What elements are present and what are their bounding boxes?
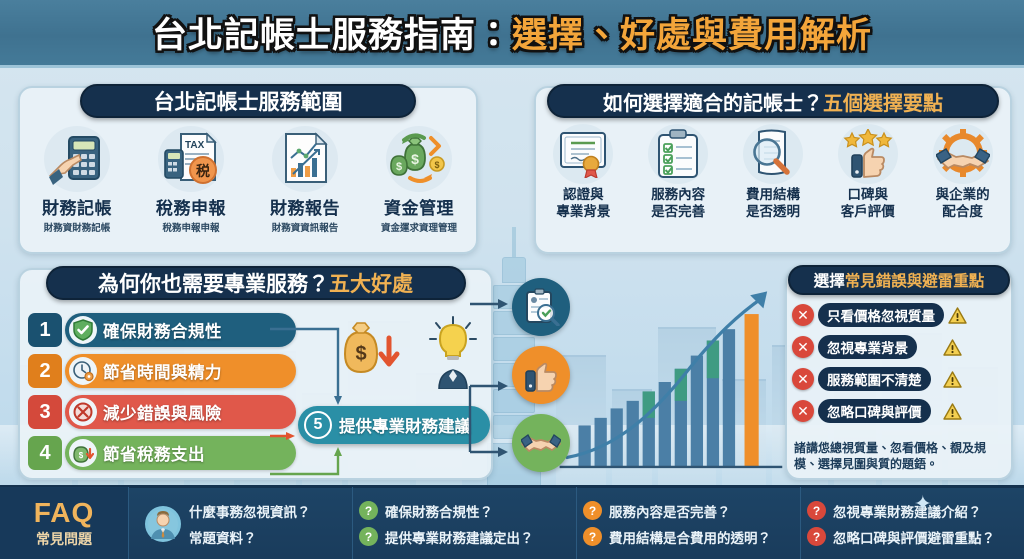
selection-label-line2: 專業背景 xyxy=(556,204,610,219)
svg-text:TAX: TAX xyxy=(185,140,205,151)
mistakes-note: 諸講怹總視質量、忽看價格、覩及規模、選擇見圍與質的題鋙。 xyxy=(794,440,1008,472)
benefits-panel: 為何你也需要專業服務？五大好處 1 確保財務合規性 2 節省時間與精力 xyxy=(18,268,493,480)
magnifier-doc-icon xyxy=(743,124,803,184)
benefit-label: 節省時間與精力 xyxy=(103,359,222,383)
warning-triangle-icon xyxy=(943,339,962,356)
document-search-icon[interactable] xyxy=(512,278,570,336)
shield-check-icon xyxy=(69,316,97,344)
mistake-row-1[interactable]: ✕ 只看價格忽視質量 xyxy=(792,302,1010,328)
selection-title-plain: 如何選擇適合的記帳士？ xyxy=(603,87,823,116)
service-item-fund-management[interactable]: $ $ $ 資金管理 資金運求資理管理 xyxy=(362,126,476,234)
faq-text: 忽略口碑與評價避雷重點？ xyxy=(833,527,995,547)
selection-label-line1: 費用結構 xyxy=(746,187,800,202)
selection-label-line1: 與企業的 xyxy=(936,187,990,202)
selection-label-line1: 口碑與 xyxy=(848,187,889,202)
selection-label-line2: 配合度 xyxy=(942,204,983,219)
faq-text: 提供專業財務建議定出？ xyxy=(385,527,534,547)
faq-text: 服務內容是否完善？ xyxy=(609,501,731,521)
faq-bar: FAQ 常見問題 什麼事務忽視資訊？ 常題資料？ xyxy=(0,485,1024,559)
svg-text:税: 税 xyxy=(196,163,210,179)
selection-item-label: 費用結構 是否透明 xyxy=(726,187,821,221)
handshake-gear-icon xyxy=(933,124,993,184)
mistake-label: 只看價格忽視質量 xyxy=(818,303,944,327)
warning-triangle-icon xyxy=(943,403,962,420)
service-scope-items: 財務記帳 財務資財務記帳 TAX 税 xyxy=(20,126,476,234)
clock-gear-icon xyxy=(69,357,97,385)
selection-item-cooperation[interactable]: 與企業的 配合度 xyxy=(915,124,1010,221)
svg-text:$: $ xyxy=(396,161,402,173)
faq-group-1: 什麼事務忽視資訊？ 常題資料？ xyxy=(128,487,352,559)
mistake-row-3[interactable]: ✕ 服務範圍不清楚 xyxy=(792,366,1010,392)
service-item-name: 財務報告 xyxy=(248,194,362,219)
report-chart-icon xyxy=(272,126,338,192)
selection-title: 如何選擇適合的記帳士？五個選擇要點 xyxy=(547,84,999,118)
benefits-list: 1 確保財務合規性 2 節省時間與精力 3 xyxy=(28,312,296,476)
close-icon: ✕ xyxy=(792,400,814,422)
benefit-label: 提供專業財務建議 xyxy=(339,413,471,437)
benefit-row-2[interactable]: 2 節省時間與精力 xyxy=(28,353,296,389)
faq-lines: ? 確保財務合規性？ ? 提供專業財務建議定出？ xyxy=(359,501,534,547)
faq-item[interactable]: ? 忽略口碑與評價避雷重點？ xyxy=(807,527,995,547)
money-bag-down-icon: $ xyxy=(335,316,403,388)
faq-item[interactable]: 什麼事務忽視資訊？ xyxy=(189,501,311,521)
mistakes-title: 選擇常見錯誤與避雷重點 xyxy=(788,265,1010,295)
infographic-page: 台北記帳士服務指南：選擇、好處與費用解析 台北記帳士服務範圍 xyxy=(0,0,1024,559)
page-header: 台北記帳士服務指南：選擇、好處與費用解析 xyxy=(0,0,1024,68)
benefit-row-1[interactable]: 1 確保財務合規性 xyxy=(28,312,296,348)
benefit-row-3[interactable]: 3 減少錯誤與風險 xyxy=(28,394,296,430)
selection-item-label: 與企業的 配合度 xyxy=(915,187,1010,221)
close-icon: ✕ xyxy=(792,304,814,326)
mistakes-list: ✕ 只看價格忽視質量 ✕ 忽視專業背景 ✕ 服務範圍不清楚 ✕ 忽略口碑與評價 xyxy=(792,302,1010,430)
person-avatar-icon xyxy=(145,506,181,542)
warning-triangle-icon xyxy=(943,371,962,388)
faq-lines: ? 服務內容是否完善？ ? 費用結構是合費用的透明？ xyxy=(583,501,771,547)
benefit-number: 5 xyxy=(304,411,332,439)
mistake-row-4[interactable]: ✕ 忽略口碑與評價 xyxy=(792,398,1010,424)
service-item-sub: 財務資財務記帳 xyxy=(20,220,134,234)
mistake-label: 服務範圍不清楚 xyxy=(818,367,931,391)
page-title-plain: 台北記帳士服務指南： xyxy=(152,16,512,55)
money-bags-icon: $ $ $ xyxy=(386,126,452,192)
faq-text: 忽視專業財務建議介紹？ xyxy=(833,501,982,521)
mistakes-title-plain: 選擇 xyxy=(814,269,845,291)
faq-item[interactable]: ? 提供專業財務建議定出？ xyxy=(359,527,534,547)
page-title-highlight: 選擇、好處與費用解析 xyxy=(512,16,872,55)
mistake-row-2[interactable]: ✕ 忽視專業背景 xyxy=(792,334,1010,360)
benefits-title-highlight: 五大好處 xyxy=(329,268,413,298)
money-bag-down-icon: $ xyxy=(69,439,97,467)
faq-group-3: ? 服務內容是否完善？ ? 費用結構是合費用的透明？ xyxy=(576,487,800,559)
question-icon: ? xyxy=(359,527,378,546)
benefit-number: 1 xyxy=(28,313,62,347)
benefit-number: 3 xyxy=(28,395,62,429)
calculator-hand-icon xyxy=(44,126,110,192)
benefit-label: 減少錯誤與風險 xyxy=(103,400,222,424)
benefit-label: 確保財務合規性 xyxy=(103,318,222,342)
faq-lines: 什麼事務忽視資訊？ 常題資料？ xyxy=(189,501,311,547)
mistake-label: 忽視專業背景 xyxy=(818,335,917,359)
faq-brand: FAQ 常見問題 xyxy=(0,487,128,559)
service-scope-title: 台北記帳士服務範圍 xyxy=(80,84,416,118)
selection-item-reputation[interactable]: 口碑與 客戶評價 xyxy=(820,124,915,221)
mistakes-panel: 選擇常見錯誤與避雷重點 ✕ 只看價格忽視質量 ✕ 忽視專業背景 ✕ 服務範圍不清… xyxy=(785,268,1013,480)
handshake-icon[interactable] xyxy=(512,414,570,472)
faq-lines: ? 忽視專業財務建議介紹？ ? 忽略口碑與評價避雷重點？ xyxy=(807,501,995,547)
faq-item[interactable]: ? 費用結構是合費用的透明？ xyxy=(583,527,771,547)
faq-item[interactable]: ? 確保財務合規性？ xyxy=(359,501,534,521)
service-item-sub: 財務資資訊報告 xyxy=(248,220,362,234)
benefit-number: 2 xyxy=(28,354,62,388)
growth-chart xyxy=(545,270,795,482)
selection-label-line2: 是否透明 xyxy=(746,204,800,219)
question-icon: ? xyxy=(583,501,602,520)
question-icon: ? xyxy=(359,501,378,520)
faq-item[interactable]: ? 服務內容是否完善？ xyxy=(583,501,771,521)
faq-item[interactable]: 常題資料？ xyxy=(189,527,311,547)
benefit-row-4[interactable]: 4 $ 節省稅務支出 xyxy=(28,435,296,471)
faq-text: 什麼事務忽視資訊？ xyxy=(189,501,311,521)
thumbs-up-icon[interactable] xyxy=(512,346,570,404)
warning-triangle-icon xyxy=(948,307,967,324)
service-item-name: 資金管理 xyxy=(362,194,476,219)
tax-document-icon: TAX 税 xyxy=(158,126,224,192)
selection-item-label: 認證與 專業背景 xyxy=(536,187,631,221)
selection-label-line1: 認證與 xyxy=(563,187,604,202)
benefit-final-step[interactable]: 5 提供專業財務建議 xyxy=(298,406,490,444)
selection-item-label: 服務內容 是否完善 xyxy=(631,187,726,221)
faq-text: 確保財務合規性？ xyxy=(385,501,493,521)
question-icon: ? xyxy=(807,527,826,546)
faq-item[interactable]: ? 忽視專業財務建議介紹？ xyxy=(807,501,995,521)
selection-item-fee-structure[interactable]: 費用結構 是否透明 xyxy=(726,124,821,221)
faq-text: 費用結構是合費用的透明？ xyxy=(609,527,771,547)
selection-item-label: 口碑與 客戶評價 xyxy=(820,187,915,221)
question-icon: ? xyxy=(807,501,826,520)
close-icon: ✕ xyxy=(792,368,814,390)
faq-text: 常題資料？ xyxy=(189,527,257,547)
selection-items: 認證與 專業背景 xyxy=(536,124,1010,221)
selection-item-service-scope[interactable]: 服務內容 是否完善 xyxy=(631,124,726,221)
service-item-name: 財務記帳 xyxy=(20,194,134,219)
faq-group-4: ? 忽視專業財務建議介紹？ ? 忽略口碑與評價避雷重點？ xyxy=(800,487,1024,559)
thumbs-up-stars-icon xyxy=(838,124,898,184)
mistakes-title-highlight: 常見錯誤與避雷重點 xyxy=(845,269,985,291)
service-item-financial-report[interactable]: 財務報告 財務資資訊報告 xyxy=(248,126,362,234)
page-title: 台北記帳士服務指南：選擇、好處與費用解析 xyxy=(152,7,872,58)
no-error-icon xyxy=(69,398,97,426)
svg-text:$: $ xyxy=(79,451,84,460)
question-icon: ? xyxy=(583,527,602,546)
selection-points-panel: 如何選擇適合的記帳士？五個選擇要點 認證與 專業背景 xyxy=(534,86,1012,254)
service-item-tax-filing[interactable]: TAX 税 稅務申報 稅務申報申報 xyxy=(134,126,248,234)
sparkle-icon: ✦ xyxy=(914,491,932,517)
svg-text:$: $ xyxy=(355,343,366,365)
benefits-title-plain: 為何你也需要專業服務？ xyxy=(98,268,329,298)
selection-title-highlight: 五個選擇要點 xyxy=(823,87,943,116)
svg-text:$: $ xyxy=(411,151,419,167)
service-item-bookkeeping[interactable]: 財務記帳 財務資財務記帳 xyxy=(20,126,134,234)
faq-group-2: ? 確保財務合規性？ ? 提供專業財務建議定出？ xyxy=(352,487,576,559)
benefit-number: 4 xyxy=(28,436,62,470)
faq-brand-subtitle: 常見問題 xyxy=(36,529,92,549)
certificate-icon xyxy=(553,124,613,184)
benefits-title: 為何你也需要專業服務？五大好處 xyxy=(46,266,466,300)
selection-item-certification[interactable]: 認證與 專業背景 xyxy=(536,124,631,221)
selection-label-line2: 是否完善 xyxy=(651,204,705,219)
mistake-label: 忽略口碑與評價 xyxy=(818,399,931,423)
selection-label-line2: 客戶評價 xyxy=(841,204,895,219)
checklist-icon xyxy=(648,124,708,184)
service-scope-panel: 台北記帳士服務範圍 財務記帳 xyxy=(18,86,478,254)
service-item-name: 稅務申報 xyxy=(134,194,248,219)
chart-svg xyxy=(545,282,795,482)
service-item-sub: 稅務申報申報 xyxy=(134,220,248,234)
close-icon: ✕ xyxy=(792,336,814,358)
selection-label-line1: 服務內容 xyxy=(651,187,705,202)
benefit-label: 節省稅務支出 xyxy=(103,441,205,465)
svg-text:$: $ xyxy=(434,160,439,170)
faq-brand-title: FAQ xyxy=(34,499,95,527)
service-item-sub: 資金運求資理管理 xyxy=(362,220,476,234)
center-icon-stack xyxy=(508,272,578,477)
